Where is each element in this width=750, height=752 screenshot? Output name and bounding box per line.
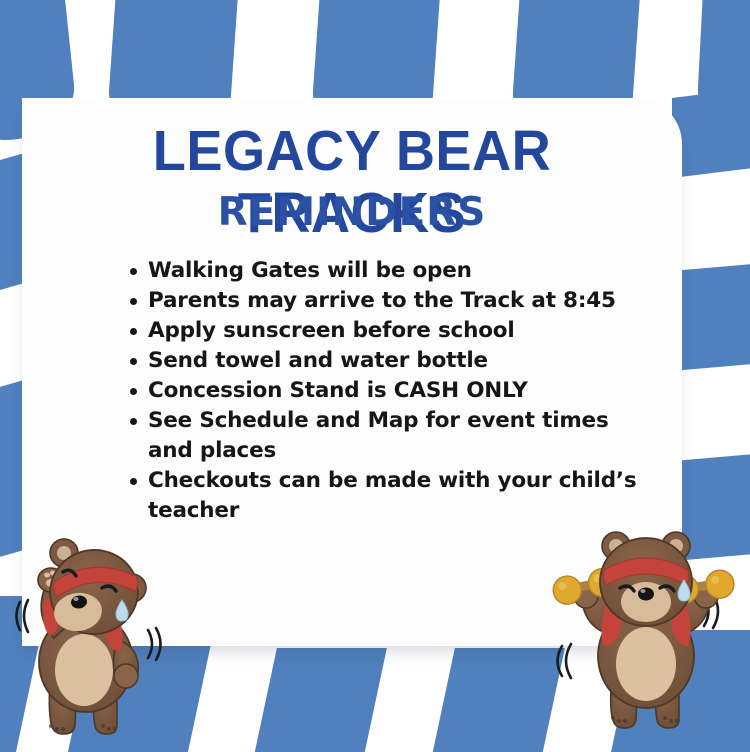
- list-item: Parents may arrive to the Track at 8:45: [130, 286, 642, 316]
- bg-stripe: [676, 259, 750, 370]
- poster-canvas: LEGACY BEAR TRACKS REMINDERS Walking Gat…: [0, 0, 750, 752]
- list-item: Apply sunscreen before school: [130, 316, 642, 346]
- list-item: Checkouts can be made with your child’s …: [130, 466, 642, 526]
- bg-stripe: [247, 648, 387, 752]
- reminders-list: Walking Gates will be open Parents may a…: [108, 256, 642, 526]
- bear-cheering-illustration: [6, 530, 216, 745]
- list-item: See Schedule and Map for event times and…: [130, 406, 642, 466]
- motion-lines-icon: [17, 600, 29, 632]
- bear-dumbbell-illustration: [528, 518, 750, 743]
- motion-lines-icon: [558, 644, 572, 678]
- bg-stripe: [672, 82, 750, 178]
- list-item: Send towel and water bottle: [130, 346, 642, 376]
- motion-lines-icon: [148, 628, 161, 660]
- list-item: Walking Gates will be open: [130, 256, 642, 286]
- page-subtitle: REMINDERS: [22, 190, 682, 236]
- list-item: Concession Stand is CASH ONLY: [130, 376, 642, 406]
